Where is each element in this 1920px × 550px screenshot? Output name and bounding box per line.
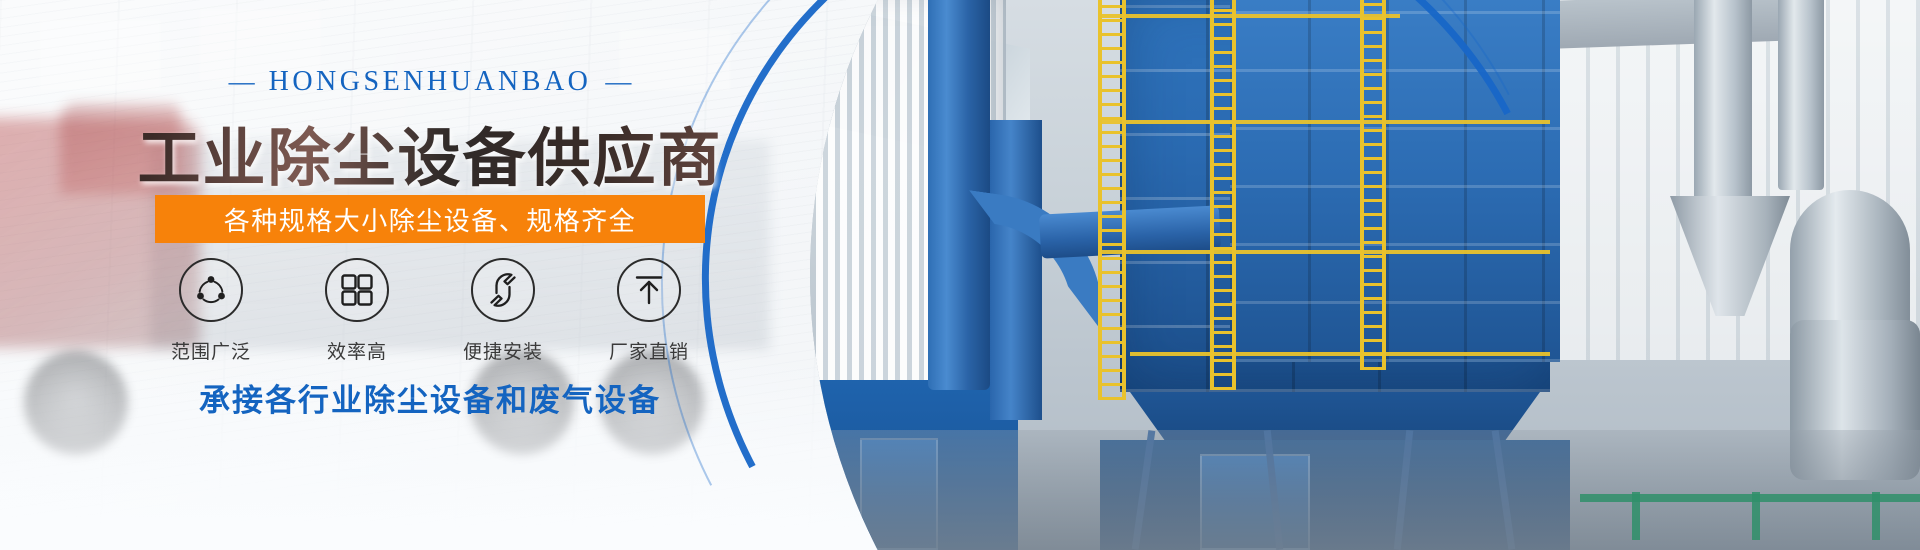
hero-banner: —HONGSENHUANBAO— 工业除尘设备供应商 各种规格大小除尘设备、规格…: [0, 0, 1920, 550]
wrench-circular-icon: [471, 258, 535, 322]
orange-subtitle-bar: 各种规格大小除尘设备、规格齐全: [155, 195, 705, 243]
steel-cylinder-tank: [1790, 190, 1910, 340]
yellow-railing: [1100, 120, 1550, 124]
green-fence-post: [1872, 492, 1880, 540]
yellow-ladder: [1098, 0, 1126, 400]
baghouse-module-array: [1230, 0, 1560, 362]
dash-right: —: [591, 67, 645, 96]
yellow-ladder: [1360, 0, 1386, 370]
feature-list: 范围广泛 效率高: [155, 258, 705, 364]
feature-label: 厂家直销: [609, 337, 689, 364]
green-fence-post: [1752, 492, 1760, 540]
feature-item-factory-direct[interactable]: 厂家直销: [593, 258, 705, 364]
banner-text-block: —HONGSENHUANBAO— 工业除尘设备供应商 各种规格大小除尘设备、规格…: [0, 0, 860, 550]
tagline: 承接各行业除尘设备和废气设备: [0, 375, 860, 420]
silver-duct: [1778, 0, 1824, 190]
feature-item-efficiency[interactable]: 效率高: [301, 258, 413, 364]
orange-subtitle-text: 各种规格大小除尘设备、规格齐全: [224, 201, 637, 238]
yellow-railing: [1130, 352, 1550, 356]
feature-label: 范围广泛: [171, 337, 251, 364]
four-squares-grid-icon: [325, 258, 389, 322]
green-fence-post: [1632, 492, 1640, 540]
dash-left: —: [215, 67, 269, 96]
yellow-railing: [1100, 250, 1550, 254]
upload-arrow-icon: [617, 258, 681, 322]
brand-pinyin-text: HONGSENHUANBAO: [269, 66, 592, 97]
network-nodes-icon: [179, 258, 243, 322]
yellow-railing: [1100, 14, 1400, 18]
feature-label: 效率高: [327, 337, 387, 364]
feature-label: 便捷安装: [463, 337, 543, 364]
feature-item-installation[interactable]: 便捷安装: [447, 258, 559, 364]
headline: 工业除尘设备供应商: [0, 108, 860, 199]
dust-collector-plant-photo: [800, 0, 1920, 550]
feature-item-range[interactable]: 范围广泛: [155, 258, 267, 364]
brand-pinyin-eyebrow: —HONGSENHUANBAO—: [0, 66, 860, 98]
yellow-ladder: [1210, 0, 1236, 390]
green-fence-rail: [1580, 494, 1920, 502]
